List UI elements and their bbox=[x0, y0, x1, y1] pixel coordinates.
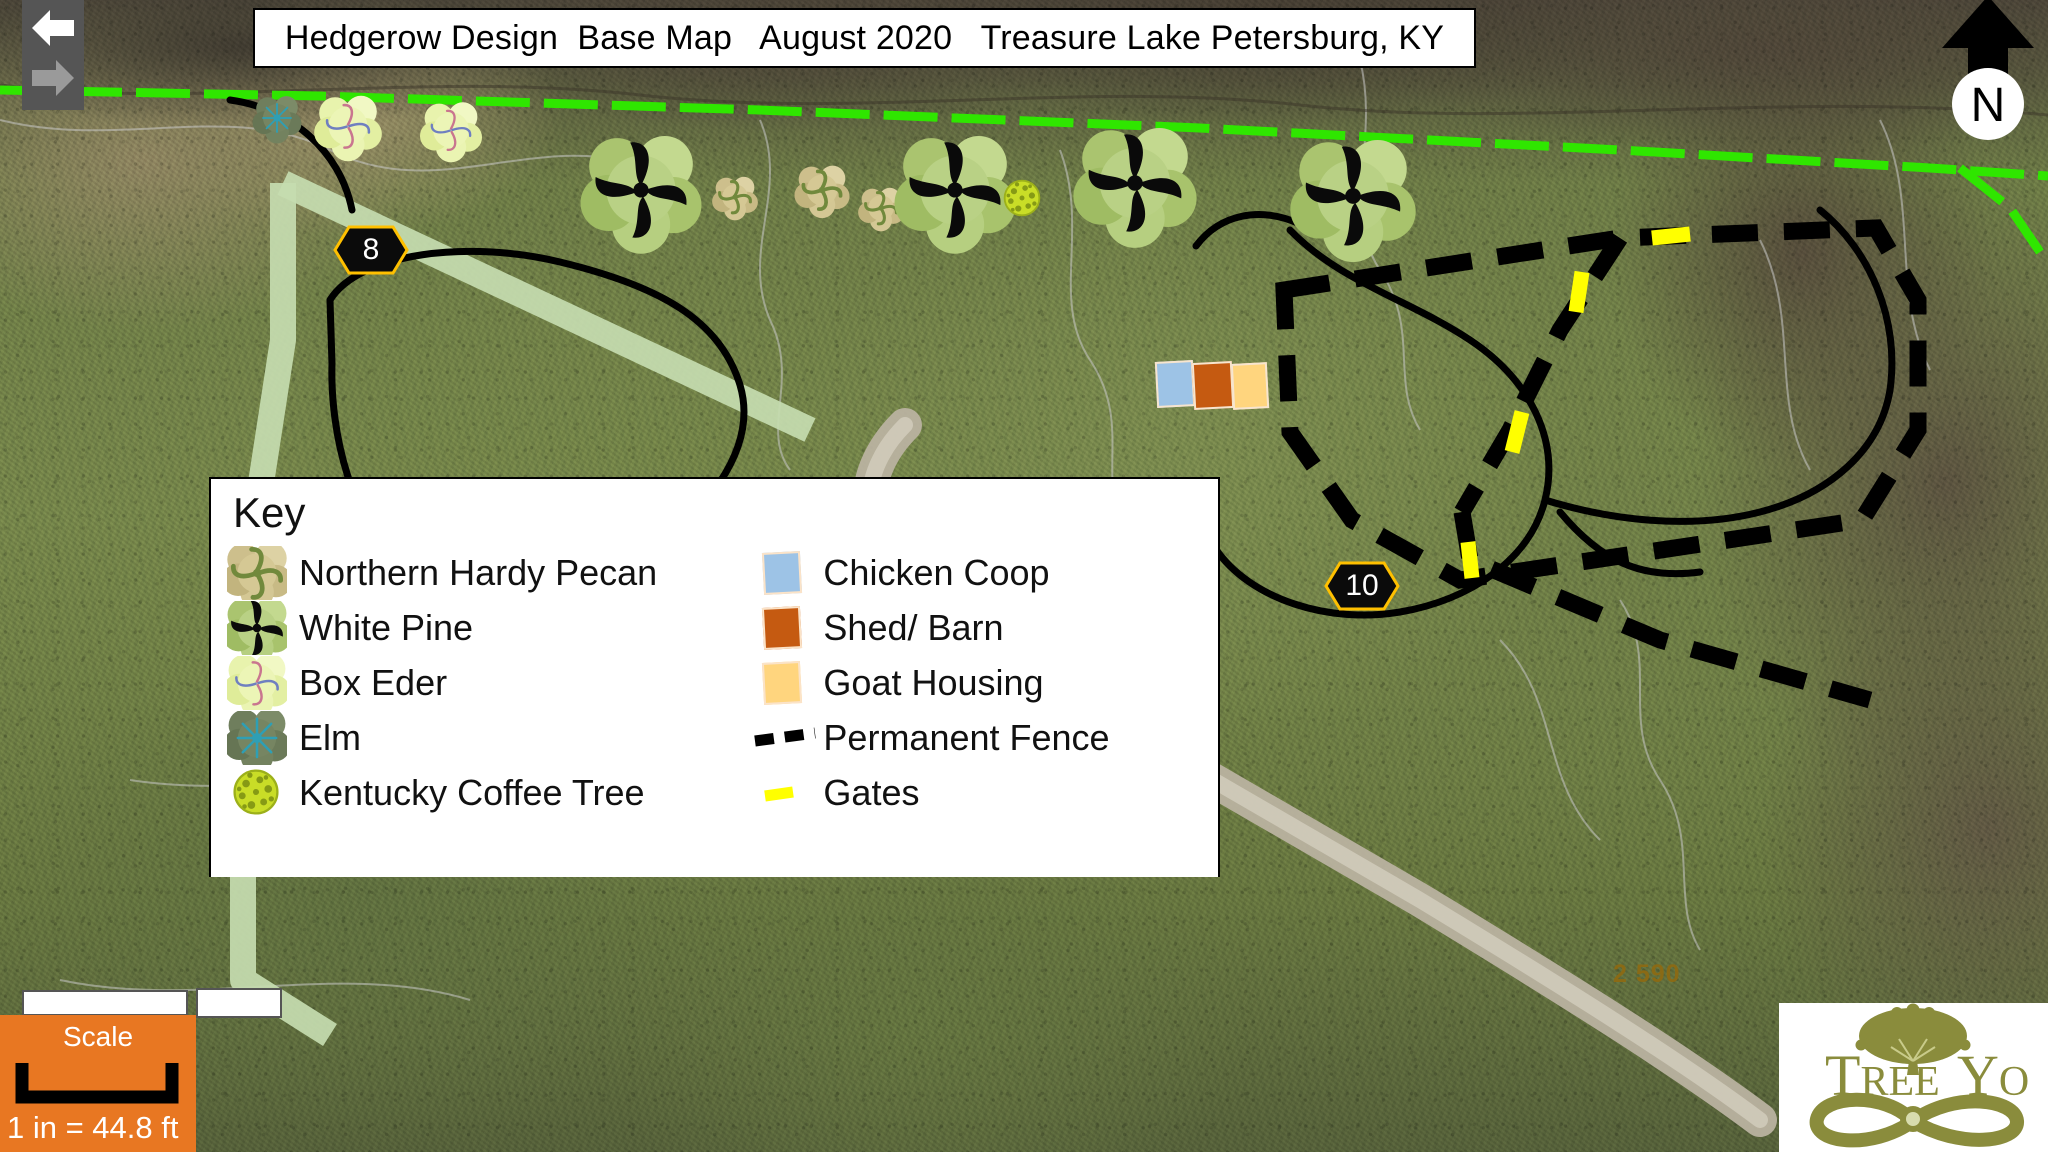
scale-value: 1 in = 44.8 ft bbox=[7, 1110, 178, 1146]
key-item-gates: Gates bbox=[749, 765, 1218, 820]
key-item-shed-barn: Shed/ Barn bbox=[749, 600, 1218, 655]
forward-arrow-icon[interactable] bbox=[30, 58, 76, 98]
plot-badge-8: 8 bbox=[332, 224, 410, 276]
navigation-controls[interactable] bbox=[22, 0, 84, 110]
map-artifact-box-2 bbox=[196, 988, 282, 1018]
parcel-number-label: 2 590 bbox=[1613, 960, 1681, 989]
elm-tree-icon bbox=[227, 711, 299, 765]
dashed-fence-line-icon bbox=[749, 711, 823, 765]
plot-number: 10 bbox=[1323, 560, 1401, 612]
tree-pine-1 bbox=[581, 136, 702, 254]
key-label: Box Eder bbox=[299, 662, 447, 704]
building-goat-housing bbox=[1231, 362, 1269, 410]
page-title: Hedgerow Design Base Map August 2020 Tre… bbox=[285, 19, 1444, 58]
key-item-goat-housing: Goat Housing bbox=[749, 655, 1218, 710]
tree-pine-2 bbox=[895, 136, 1016, 254]
key-label: Permanent Fence bbox=[823, 717, 1109, 759]
treeyo-logo-icon: TREE YO bbox=[1779, 1003, 2048, 1152]
plot-badge-10: 10 bbox=[1323, 560, 1401, 612]
key-label: Shed/ Barn bbox=[823, 607, 1003, 649]
tree-pine-4 bbox=[1290, 140, 1415, 262]
key-label: Elm bbox=[299, 717, 361, 759]
key-item-chicken-coop: Chicken Coop bbox=[749, 545, 1218, 600]
key-column-structures: Chicken Coop Shed/ Barn Goat Housing bbox=[749, 545, 1218, 820]
white-pine-tree-icon bbox=[227, 601, 299, 655]
key-column-species: Northern Hardy Pecan White Pine Box Eder bbox=[211, 545, 749, 820]
tree-pecan-2 bbox=[794, 166, 849, 218]
key-label: Kentucky Coffee Tree bbox=[299, 772, 645, 814]
shed-barn-swatch-icon bbox=[749, 601, 823, 655]
key-heading: Key bbox=[233, 489, 305, 537]
key-label: Northern Hardy Pecan bbox=[299, 552, 657, 594]
scale-bar-graphic bbox=[14, 1063, 180, 1107]
key-item-pecan: Northern Hardy Pecan bbox=[227, 545, 749, 600]
tree-boxelder-1 bbox=[314, 96, 382, 162]
key-label: Gates bbox=[823, 772, 919, 814]
tree-elm-1 bbox=[253, 96, 302, 143]
scale-box: Scale 1 in = 44.8 ft bbox=[0, 1015, 196, 1152]
north-arrow: N bbox=[1934, 0, 2042, 144]
scale-title: Scale bbox=[0, 1021, 196, 1053]
plot-number: 8 bbox=[332, 224, 410, 276]
key-item-box-elder: Box Eder bbox=[227, 655, 749, 710]
key-item-white-pine: White Pine bbox=[227, 600, 749, 655]
building-chicken-coop bbox=[1155, 360, 1195, 408]
key-item-permanent-fence: Permanent Fence bbox=[749, 710, 1218, 765]
box-elder-tree-icon bbox=[227, 656, 299, 710]
map-poster: 2 590 Hedgerow Design Base Map August 20… bbox=[0, 0, 2048, 1152]
building-shed-barn bbox=[1192, 361, 1234, 410]
key-label: Chicken Coop bbox=[823, 552, 1049, 594]
compass-letter: N bbox=[1971, 79, 2006, 132]
tree-pecan-1 bbox=[712, 177, 758, 221]
tree-boxelder-2 bbox=[420, 102, 482, 162]
key-label: Goat Housing bbox=[823, 662, 1043, 704]
pecan-tree-icon bbox=[227, 546, 299, 600]
key-item-kentucky-coffee-tree: Kentucky Coffee Tree bbox=[227, 765, 749, 820]
map-key-panel: Key Northern Hardy Pecan White Pine bbox=[209, 477, 1220, 877]
goat-housing-swatch-icon bbox=[749, 656, 823, 710]
tree-pine-3 bbox=[1073, 128, 1196, 248]
map-title-bar: Hedgerow Design Base Map August 2020 Tre… bbox=[253, 8, 1476, 68]
gate-dash-icon bbox=[749, 766, 823, 820]
back-arrow-icon[interactable] bbox=[30, 8, 76, 48]
tree-coffee-1 bbox=[1005, 181, 1040, 216]
treeyo-logo: TREE YO bbox=[1779, 1003, 2048, 1152]
kentucky-coffee-tree-icon bbox=[227, 766, 299, 820]
key-label: White Pine bbox=[299, 607, 473, 649]
map-artifact-box bbox=[22, 990, 188, 1016]
key-item-elm: Elm bbox=[227, 710, 749, 765]
chicken-coop-swatch-icon bbox=[749, 546, 823, 600]
